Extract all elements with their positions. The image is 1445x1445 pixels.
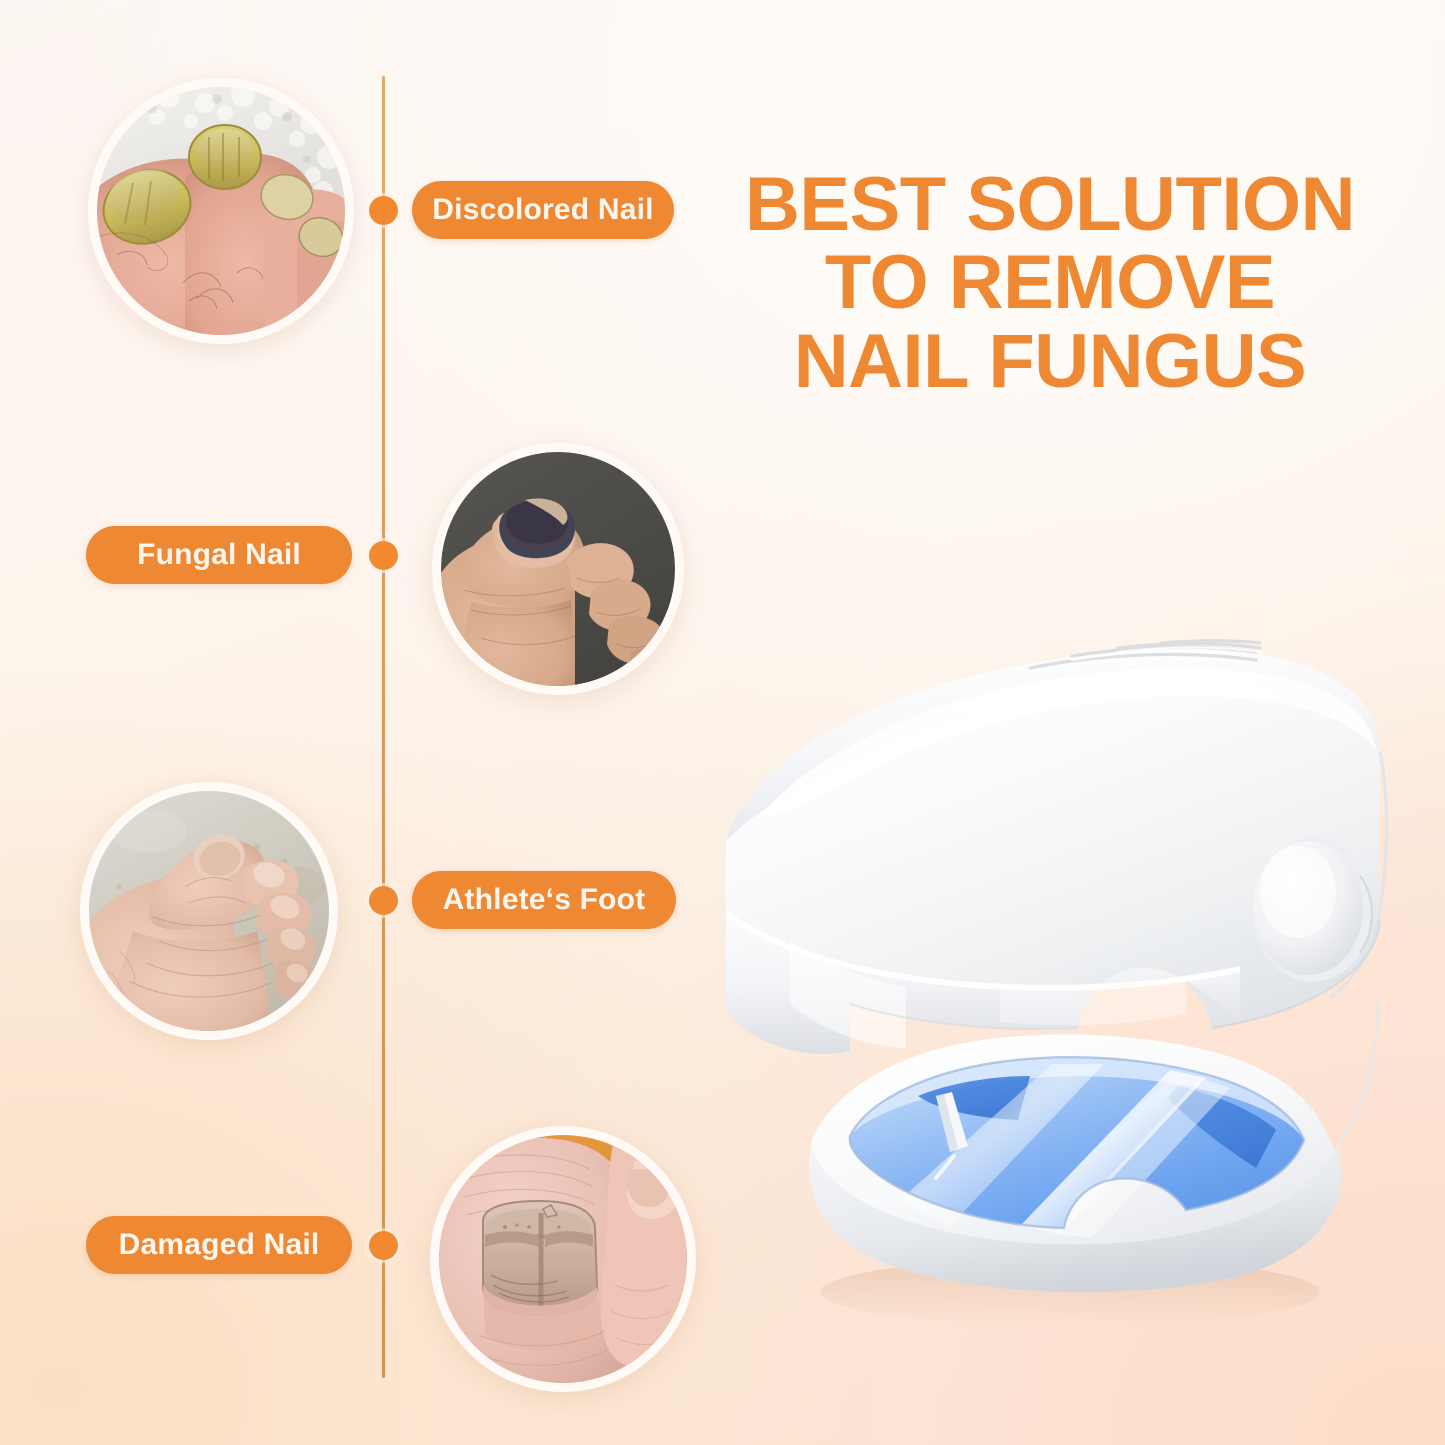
photo-fungal-nail bbox=[432, 443, 684, 695]
label-damaged-nail[interactable]: Damaged Nail bbox=[86, 1216, 352, 1274]
photo-discolored-nail bbox=[88, 78, 354, 344]
label-discolored-nail[interactable]: Discolored Nail bbox=[412, 181, 674, 239]
label-damaged-nail-text: Damaged Nail bbox=[119, 1228, 320, 1262]
timeline-dot-1 bbox=[369, 196, 398, 225]
label-fungal-nail[interactable]: Fungal Nail bbox=[86, 526, 352, 584]
timeline-dot-2 bbox=[369, 541, 398, 570]
timeline-dot-3 bbox=[369, 886, 398, 915]
promo-image-root: Discolored Nail Fungal Nail Athlete‘s Fo… bbox=[0, 0, 1445, 1445]
photo-damaged-nail bbox=[430, 1126, 696, 1392]
headline-line-3: NAIL FUNGUS bbox=[700, 323, 1400, 401]
label-fungal-nail-text: Fungal Nail bbox=[137, 538, 301, 572]
page-title: BEST SOLUTION TO REMOVE NAIL FUNGUS bbox=[700, 166, 1400, 401]
timeline-dot-4 bbox=[369, 1231, 398, 1260]
label-discolored-nail-text: Discolored Nail bbox=[432, 193, 653, 227]
label-athletes-foot-text: Athlete‘s Foot bbox=[443, 883, 646, 917]
label-athletes-foot[interactable]: Athlete‘s Foot bbox=[412, 871, 676, 929]
headline-line-1: BEST SOLUTION bbox=[700, 166, 1400, 244]
product-image-nail-fungus-laser-device bbox=[700, 580, 1430, 1340]
photo-athletes-foot bbox=[80, 782, 338, 1040]
headline-line-2: TO REMOVE bbox=[700, 244, 1400, 322]
timeline-line bbox=[382, 76, 385, 1378]
